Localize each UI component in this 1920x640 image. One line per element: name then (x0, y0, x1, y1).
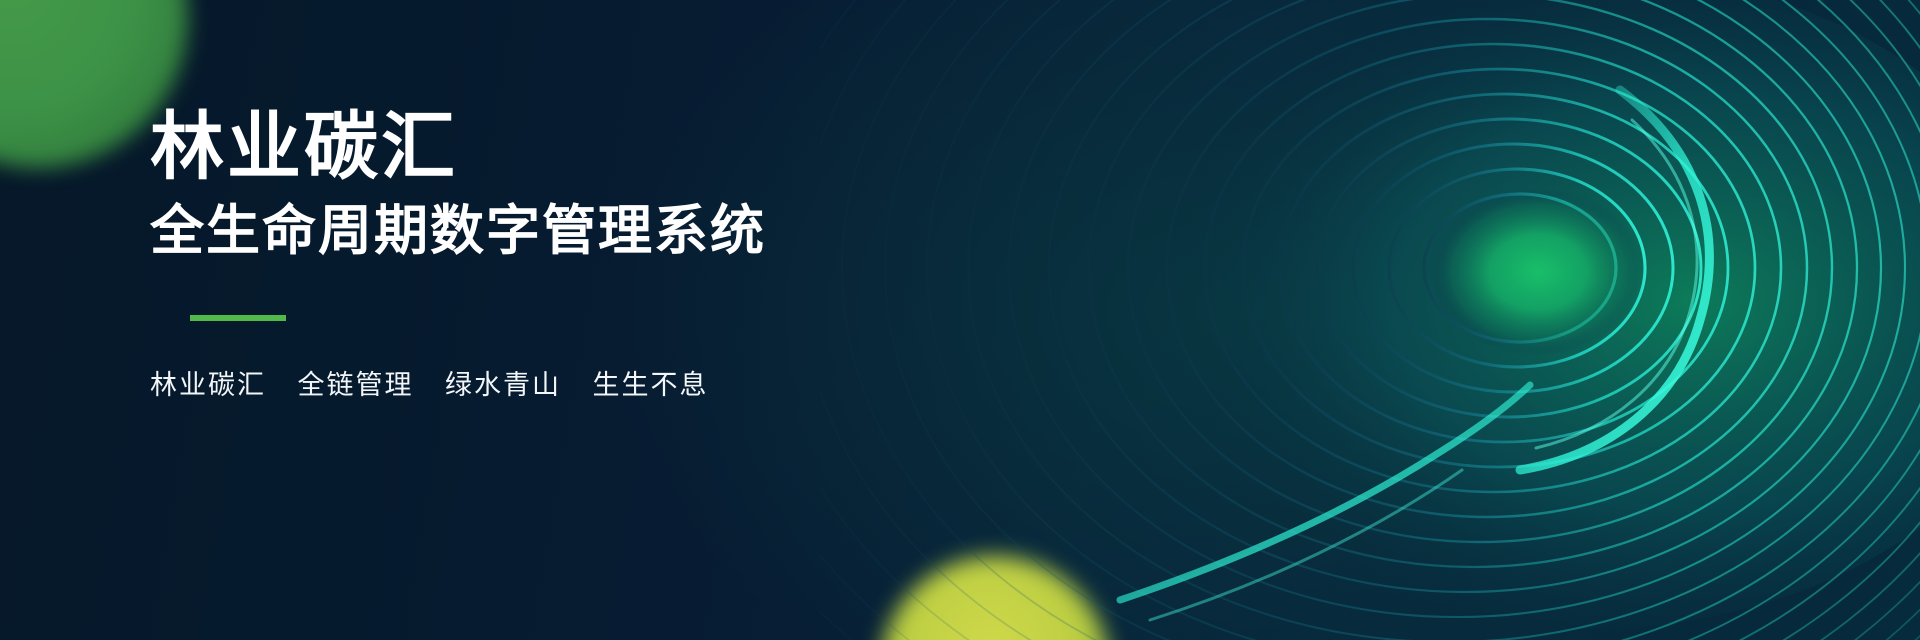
tagline-part-1: 林业碳汇 (150, 370, 266, 400)
page-title: 林业碳汇 (150, 108, 910, 186)
tagline-part-2: 全链管理 (298, 370, 414, 400)
accent-divider (190, 315, 286, 321)
tagline: 林业碳汇 全链管理 绿水青山 生生不息 (150, 363, 910, 402)
hero-content: 林业碳汇 全生命周期数字管理系统 林业碳汇 全链管理 绿水青山 生生不息 (150, 108, 910, 402)
hero-banner: 林业碳汇 全生命周期数字管理系统 林业碳汇 全链管理 绿水青山 生生不息 (0, 0, 1920, 640)
tagline-part-4: 生生不息 (593, 370, 709, 400)
page-subtitle: 全生命周期数字管理系统 (150, 200, 910, 264)
concentric-rings-swirl-icon (820, 0, 1920, 640)
tagline-part-3: 绿水青山 (445, 370, 561, 400)
